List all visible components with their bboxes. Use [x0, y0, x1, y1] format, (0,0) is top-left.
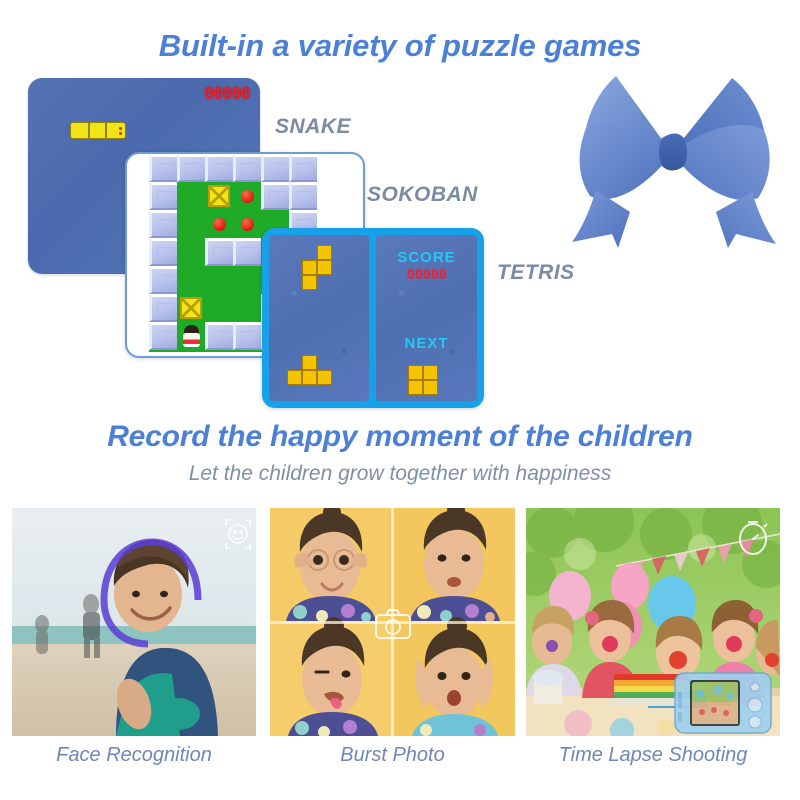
tetris-info-panel: SCORE 00000 NEXT — [376, 235, 477, 401]
blue-bow-decoration-icon — [556, 62, 788, 248]
camera-icon — [374, 608, 412, 640]
tetris-next-label: NEXT — [376, 335, 477, 352]
snake-eye-icon — [119, 132, 122, 135]
page-title-record: Record the happy moment of the children — [0, 420, 800, 454]
sokoban-target — [205, 210, 233, 238]
tetris-next-piece — [408, 365, 423, 380]
feature-caption-face-recognition: Face Recognition — [12, 744, 256, 767]
sokoban-target — [233, 182, 261, 210]
tetris-next-piece — [423, 365, 438, 380]
tetris-next-piece — [423, 380, 438, 395]
tetris-score-label: SCORE — [376, 249, 477, 266]
page-title-games: Built-in a variety of puzzle games — [0, 28, 800, 64]
snake-score-display: 00000 — [204, 84, 250, 104]
feature-photo-face-recognition — [12, 508, 256, 736]
game-label-tetris: TETRIS — [497, 261, 575, 285]
kids-camera-device — [674, 672, 772, 734]
stopwatch-icon — [730, 514, 776, 560]
snake-eye-icon — [119, 127, 122, 130]
tetris-score-value: 00000 — [376, 267, 477, 283]
feature-photo-time-lapse — [526, 508, 780, 736]
game-screen-tetris: SCORE 00000 NEXT — [262, 228, 484, 408]
feature-photo-burst — [270, 508, 515, 736]
sokoban-target — [233, 210, 261, 238]
smiley-face-detect-icon — [216, 514, 256, 558]
sokoban-player-sprite — [177, 322, 205, 350]
sokoban-crate — [177, 294, 205, 322]
tetris-playfield — [269, 235, 369, 401]
tetris-next-piece — [408, 380, 423, 395]
feature-caption-time-lapse: Time Lapse Shooting — [526, 744, 780, 767]
game-label-snake: SNAKE — [275, 115, 351, 139]
snake-sprite — [70, 122, 126, 139]
feature-caption-burst: Burst Photo — [270, 744, 515, 767]
page-subtitle-record: Let the children grow together with happ… — [0, 462, 800, 486]
product-feature-page: Built-in a variety of puzzle games 00000 — [0, 0, 800, 800]
game-label-sokoban: SOKOBAN — [367, 183, 478, 207]
sokoban-crate — [205, 182, 233, 210]
